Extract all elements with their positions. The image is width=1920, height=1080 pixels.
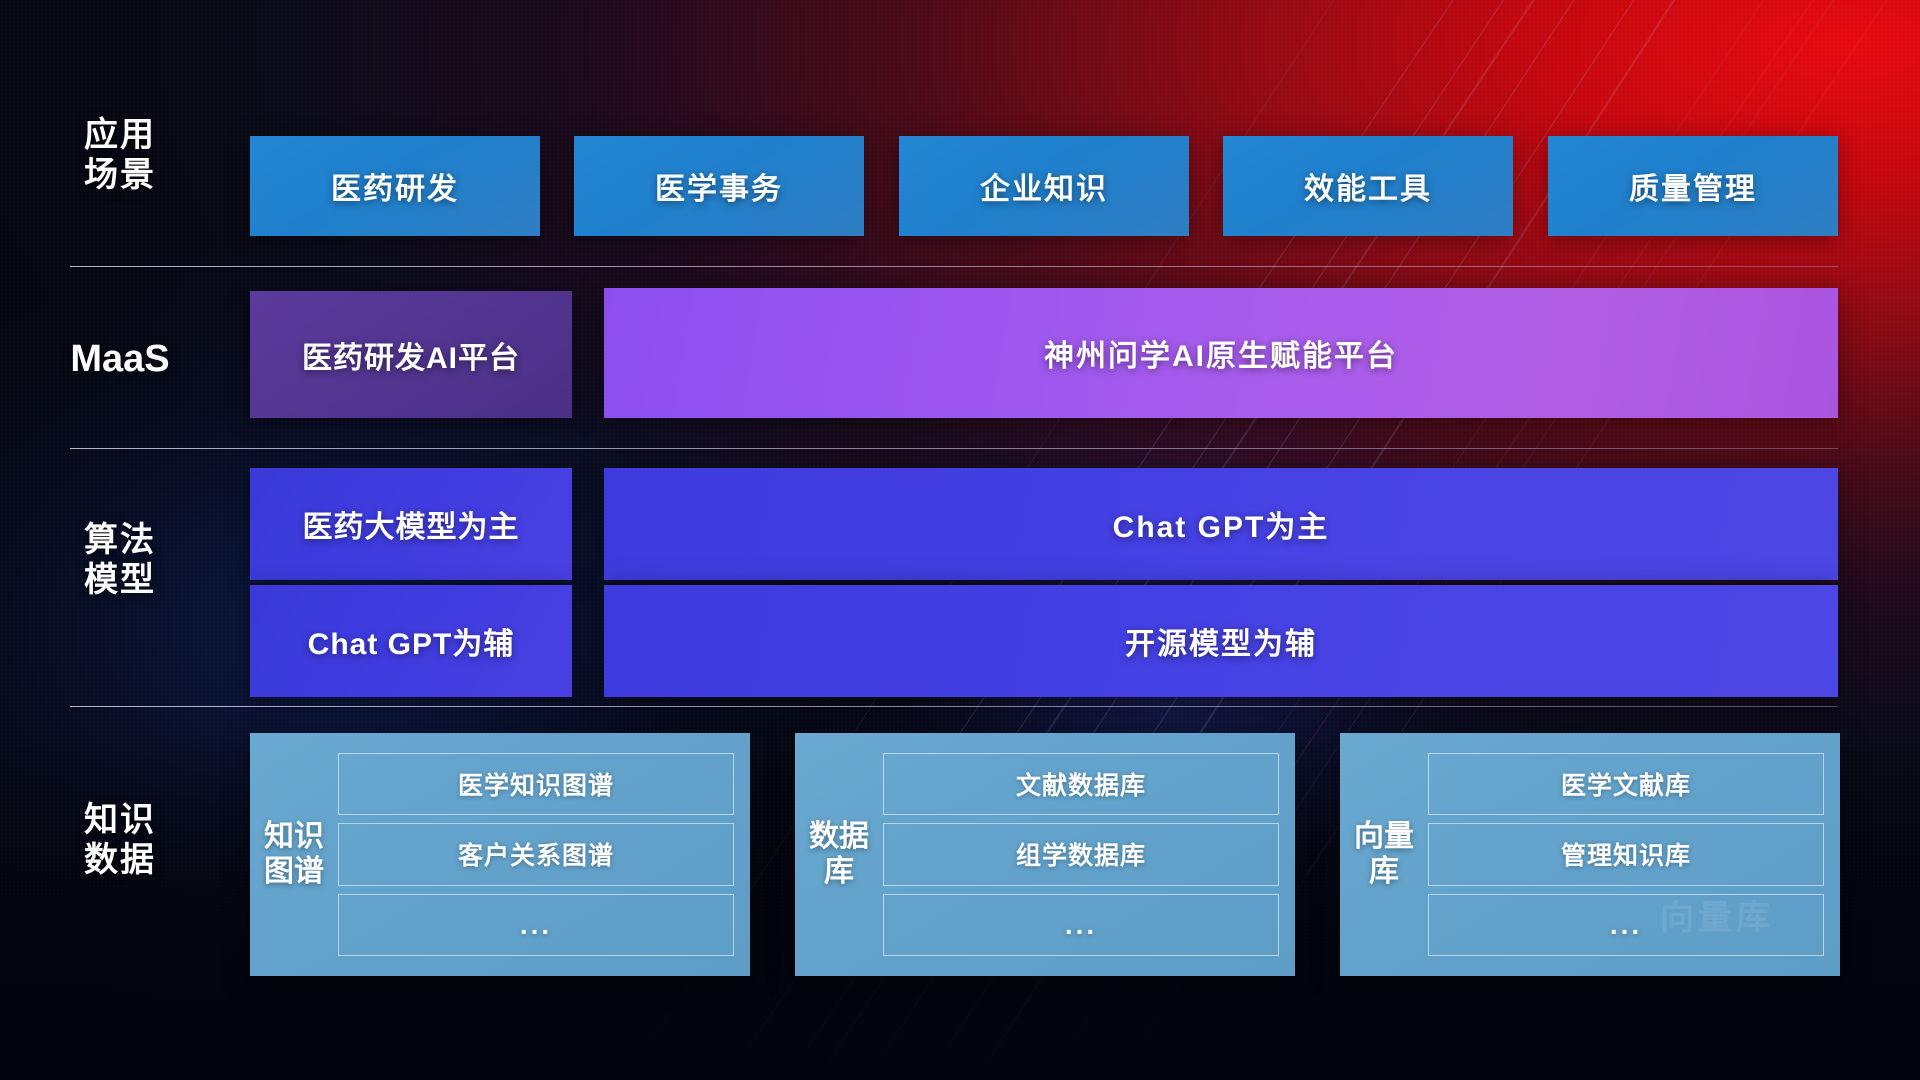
- algorithm-card-right-1[interactable]: 开源模型为辅: [604, 585, 1838, 697]
- knowledge-item-1-1[interactable]: 组学数据库: [883, 823, 1279, 885]
- knowledge-item-0-1-label: 客户关系图谱: [458, 836, 614, 872]
- row-label-algorithm: 算法 模型: [40, 520, 200, 600]
- knowledge-item-0-0[interactable]: 医学知识图谱: [338, 753, 734, 815]
- algorithm-card-left-1[interactable]: Chat GPT为辅: [250, 585, 572, 697]
- maas-card-medical-ai-platform[interactable]: 医药研发AI平台: [250, 291, 572, 418]
- algorithm-card-right-0-label: Chat GPT为主: [1113, 502, 1330, 546]
- knowledge-group-2-title: 向量库: [1354, 820, 1414, 890]
- algorithm-card-left-1-label: Chat GPT为辅: [308, 619, 515, 663]
- app-card-2[interactable]: 企业知识: [899, 136, 1189, 236]
- app-card-4[interactable]: 质量管理: [1548, 136, 1838, 236]
- maas-card-shenzhou-platform-label: 神州问学AI原生赋能平台: [1044, 331, 1398, 375]
- algorithm-card-left-0-label: 医药大模型为主: [303, 502, 520, 546]
- row-label-application-line1: 应用: [40, 115, 200, 155]
- maas-card-shenzhou-platform[interactable]: 神州问学AI原生赋能平台: [604, 288, 1838, 418]
- row-label-application-line2: 场景: [40, 155, 200, 195]
- knowledge-group-1-title: 数据库: [809, 820, 869, 890]
- knowledge-item-0-2-label: ...: [520, 909, 552, 941]
- knowledge-item-2-0[interactable]: 医学文献库: [1428, 753, 1824, 815]
- row-label-application: 应用 场景: [40, 115, 200, 195]
- app-card-4-label: 质量管理: [1629, 164, 1757, 208]
- divider-maas-algorithm: [70, 448, 1838, 449]
- knowledge-item-2-1-label: 管理知识库: [1561, 836, 1691, 872]
- architecture-diagram: 应用 场景 医药研发 医学事务 企业知识 效能工具 质量管理 MaaS 医药研发…: [0, 0, 1920, 1080]
- knowledge-item-0-1[interactable]: 客户关系图谱: [338, 823, 734, 885]
- knowledge-item-2-2[interactable]: ...: [1428, 894, 1824, 956]
- knowledge-group-0-title: 知识图谱: [264, 820, 324, 890]
- algorithm-card-left-0[interactable]: 医药大模型为主: [250, 468, 572, 580]
- maas-card-medical-ai-platform-label: 医药研发AI平台: [302, 333, 520, 377]
- row-label-algorithm-line2: 模型: [40, 560, 200, 600]
- row-label-algorithm-line1: 算法: [40, 520, 200, 560]
- knowledge-item-2-1[interactable]: 管理知识库: [1428, 823, 1824, 885]
- divider-algorithm-knowledge: [70, 706, 1838, 707]
- knowledge-item-1-1-label: 组学数据库: [1016, 836, 1146, 872]
- knowledge-item-0-2[interactable]: ...: [338, 894, 734, 956]
- app-card-3[interactable]: 效能工具: [1223, 136, 1513, 236]
- knowledge-group-2-items: 医学文献库 管理知识库 ...: [1428, 749, 1824, 960]
- app-card-0[interactable]: 医药研发: [250, 136, 540, 236]
- knowledge-item-2-2-label: ...: [1610, 909, 1642, 941]
- knowledge-item-1-2-label: ...: [1065, 909, 1097, 941]
- knowledge-item-0-0-label: 医学知识图谱: [458, 766, 614, 802]
- app-card-3-label: 效能工具: [1304, 164, 1432, 208]
- knowledge-group-database[interactable]: 数据库 文献数据库 组学数据库 ...: [795, 733, 1295, 976]
- row-label-maas: MaaS: [40, 337, 200, 382]
- knowledge-item-1-0[interactable]: 文献数据库: [883, 753, 1279, 815]
- app-card-2-label: 企业知识: [980, 164, 1108, 208]
- knowledge-group-vector-db[interactable]: 向量库 医学文献库 管理知识库 ...: [1340, 733, 1840, 976]
- knowledge-item-1-2[interactable]: ...: [883, 894, 1279, 956]
- row-label-knowledge: 知识 数据: [40, 800, 200, 880]
- row-label-maas-text: MaaS: [40, 337, 200, 382]
- app-card-1[interactable]: 医学事务: [574, 136, 864, 236]
- row-label-knowledge-line1: 知识: [40, 800, 200, 840]
- algorithm-card-right-0[interactable]: Chat GPT为主: [604, 468, 1838, 580]
- knowledge-group-1-items: 文献数据库 组学数据库 ...: [883, 749, 1279, 960]
- row-label-knowledge-line2: 数据: [40, 840, 200, 880]
- knowledge-group-knowledge-graph[interactable]: 知识图谱 医学知识图谱 客户关系图谱 ...: [250, 733, 750, 976]
- knowledge-item-2-0-label: 医学文献库: [1561, 766, 1691, 802]
- knowledge-group-0-items: 医学知识图谱 客户关系图谱 ...: [338, 749, 734, 960]
- divider-application-maas: [70, 266, 1838, 267]
- algorithm-card-right-1-label: 开源模型为辅: [1125, 619, 1317, 663]
- app-card-1-label: 医学事务: [655, 164, 783, 208]
- app-card-0-label: 医药研发: [331, 164, 459, 208]
- knowledge-item-1-0-label: 文献数据库: [1016, 766, 1146, 802]
